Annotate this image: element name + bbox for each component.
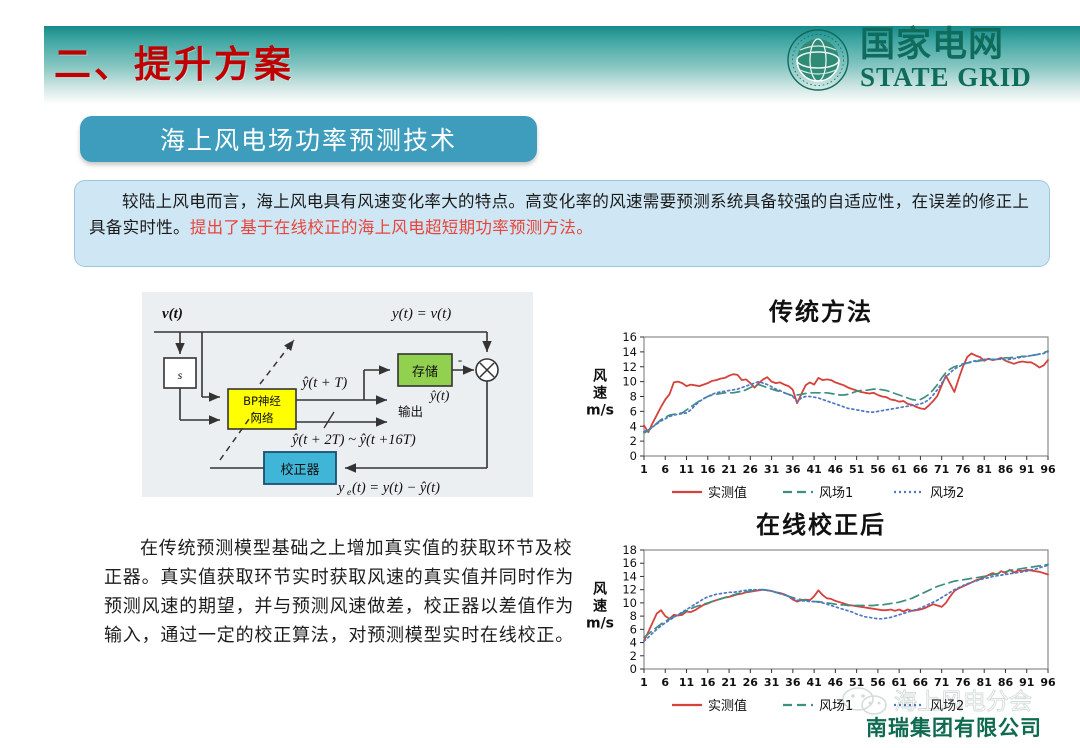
svg-text:2: 2: [630, 649, 637, 663]
svg-text:风场1: 风场1: [819, 486, 853, 501]
chart-traditional-plot: 0246810121416161116212631364146515661667…: [586, 327, 1056, 502]
svg-text:(t) = y(t) − ŷ(t): (t) = y(t) − ŷ(t): [352, 480, 440, 496]
svg-text:m/s: m/s: [586, 403, 614, 419]
svg-text:s: s: [178, 368, 183, 382]
body-text-block: 在传统预测模型基础之上增加真实值的获取环节及校正器。真实值获取环节实时获取风速的…: [104, 534, 576, 650]
svg-text:46: 46: [828, 463, 844, 476]
svg-text:31: 31: [764, 463, 779, 476]
svg-text:实测值: 实测值: [708, 485, 747, 501]
svg-text:36: 36: [785, 463, 801, 476]
callout-box: 较陆上风电而言，海上风电具有风速变化率大的特点。高变化率的风速需要预测系统具备较…: [74, 180, 1050, 267]
svg-text:6: 6: [630, 404, 637, 418]
section-subtitle-pill: 海上风电场功率预测技术: [80, 116, 537, 162]
svg-text:56: 56: [870, 463, 886, 476]
svg-text:m/s: m/s: [586, 616, 614, 632]
svg-text:风场2: 风场2: [930, 486, 964, 501]
section-subtitle-label: 海上风电场功率预测技术: [160, 121, 457, 157]
logo-text-en: STATE GRID: [860, 63, 1032, 91]
svg-text:66: 66: [913, 463, 929, 476]
svg-text:10: 10: [622, 596, 637, 610]
svg-text:81: 81: [977, 463, 992, 476]
svg-text:14: 14: [622, 345, 637, 359]
footer-company-name: 南瑞集团有限公司: [866, 712, 1042, 742]
svg-text:ŷ(t + T): ŷ(t + T): [300, 375, 347, 391]
chart-traditional: 传统方法 02468101214161611162126313641465156…: [586, 292, 1056, 502]
svg-text:51: 51: [849, 463, 864, 476]
svg-text:16: 16: [700, 463, 716, 476]
svg-text:16: 16: [622, 330, 637, 344]
svg-text:6: 6: [661, 463, 669, 476]
svg-text:26: 26: [743, 463, 759, 476]
svg-text:y: y: [336, 480, 345, 496]
svg-text:12: 12: [622, 360, 637, 374]
callout-text-highlight: 提出了基于在线校正的海上风电超短期功率预测方法。: [190, 218, 593, 237]
svg-text:y(t) = v(t): y(t) = v(t): [390, 306, 451, 322]
svg-text:76: 76: [955, 463, 971, 476]
svg-text:风: 风: [593, 369, 607, 385]
svg-text:6: 6: [661, 676, 669, 689]
svg-text:21: 21: [721, 676, 736, 689]
svg-text:26: 26: [743, 676, 759, 689]
body-paragraph: 在传统预测模型基础之上增加真实值的获取环节及校正器。真实值获取环节实时获取风速的…: [104, 534, 576, 650]
svg-text:16: 16: [700, 676, 716, 689]
svg-text:输出: 输出: [398, 404, 423, 419]
svg-text:36: 36: [785, 676, 801, 689]
svg-text:41: 41: [806, 463, 821, 476]
svg-text:11: 11: [679, 676, 694, 689]
svg-text:91: 91: [1019, 463, 1034, 476]
svg-text:0: 0: [630, 449, 637, 463]
page-title: 二、提升方案: [54, 34, 294, 88]
svg-text:14: 14: [622, 569, 637, 583]
state-grid-logo: 国家电网 STATE GRID: [786, 28, 1032, 92]
svg-text:86: 86: [998, 463, 1014, 476]
svg-text:v(t): v(t): [162, 306, 183, 322]
state-grid-globe-icon: [786, 28, 850, 92]
svg-text:0: 0: [630, 662, 637, 676]
svg-text:校正器: 校正器: [280, 462, 319, 478]
chart-online-corrected-title: 在线校正后: [586, 505, 1056, 540]
svg-text:风: 风: [593, 582, 607, 598]
svg-text:实测值: 实测值: [708, 698, 747, 714]
svg-text:4: 4: [630, 636, 637, 650]
svg-text:96: 96: [1040, 463, 1056, 476]
svg-text:存储: 存储: [412, 365, 438, 380]
svg-text:8: 8: [630, 390, 637, 404]
svg-text:16: 16: [622, 556, 637, 570]
svg-text:ŷ(t): ŷ(t): [428, 389, 450, 404]
bp-online-correction-block-diagram: s BP神经 网络 存储 - 校正器 v(t) y(t) = v(t) ŷ(t …: [142, 292, 533, 497]
svg-text:8: 8: [630, 609, 637, 623]
svg-text:71: 71: [934, 463, 949, 476]
svg-text:61: 61: [892, 463, 907, 476]
svg-text:速: 速: [593, 385, 607, 402]
svg-text:12: 12: [622, 583, 637, 597]
svg-text:BP神经: BP神经: [243, 394, 281, 408]
svg-text:11: 11: [679, 463, 694, 476]
svg-text:2: 2: [630, 434, 637, 448]
svg-text:4: 4: [630, 419, 637, 433]
svg-text:6: 6: [630, 622, 637, 636]
svg-text:1: 1: [640, 676, 648, 689]
svg-text:31: 31: [764, 676, 779, 689]
svg-text:-: -: [458, 352, 462, 367]
svg-text:ŷ(t + 2T) ~ ŷ(t +16T): ŷ(t + 2T) ~ ŷ(t +16T): [290, 432, 416, 448]
svg-text:速: 速: [593, 598, 607, 615]
svg-text:1: 1: [640, 463, 648, 476]
svg-text:21: 21: [721, 463, 736, 476]
svg-text:41: 41: [806, 676, 821, 689]
svg-text:10: 10: [622, 375, 637, 389]
chart-traditional-title: 传统方法: [586, 292, 1056, 327]
svg-text:18: 18: [622, 543, 637, 557]
logo-text-cn: 国家电网: [860, 28, 1032, 63]
svg-text:e: e: [347, 488, 351, 497]
